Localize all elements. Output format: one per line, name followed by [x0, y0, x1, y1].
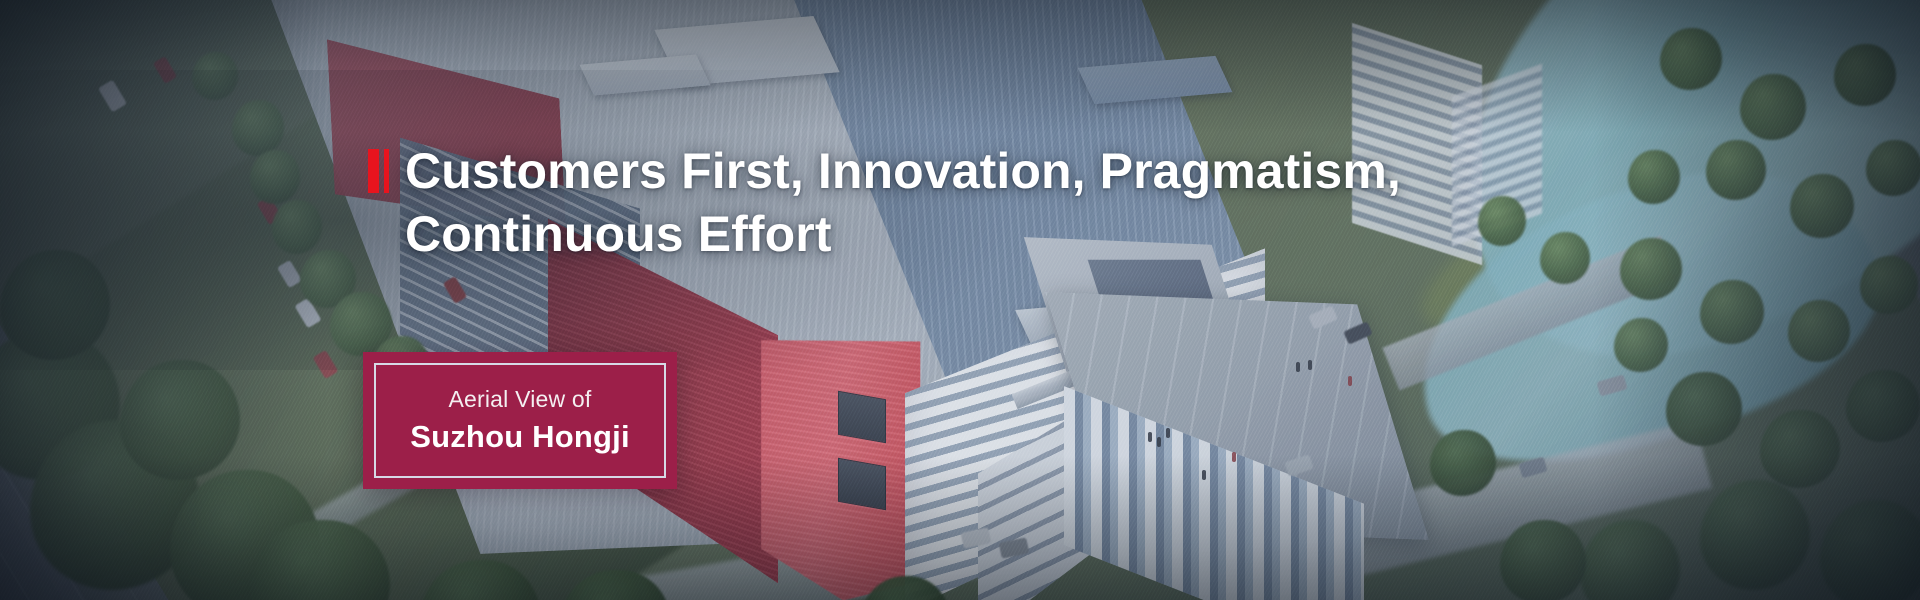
accent-bar-narrow-icon: [384, 149, 389, 193]
page-title: Customers First, Innovation, Pragmatism,…: [405, 140, 1465, 266]
accent-bars-icon: [368, 149, 389, 193]
badge-title: Suzhou Hongji: [410, 420, 630, 454]
badge-subtitle: Aerial View of: [448, 387, 591, 412]
hero-banner: Customers First, Innovation, Pragmatism,…: [0, 0, 1920, 600]
aerial-view-badge[interactable]: Aerial View of Suzhou Hongji: [363, 352, 677, 489]
badge-inner-frame: Aerial View of Suzhou Hongji: [374, 363, 666, 478]
banner-content: Customers First, Innovation, Pragmatism,…: [0, 0, 1920, 600]
headline-block: Customers First, Innovation, Pragmatism,…: [368, 140, 1518, 266]
accent-bar-wide-icon: [368, 149, 379, 193]
